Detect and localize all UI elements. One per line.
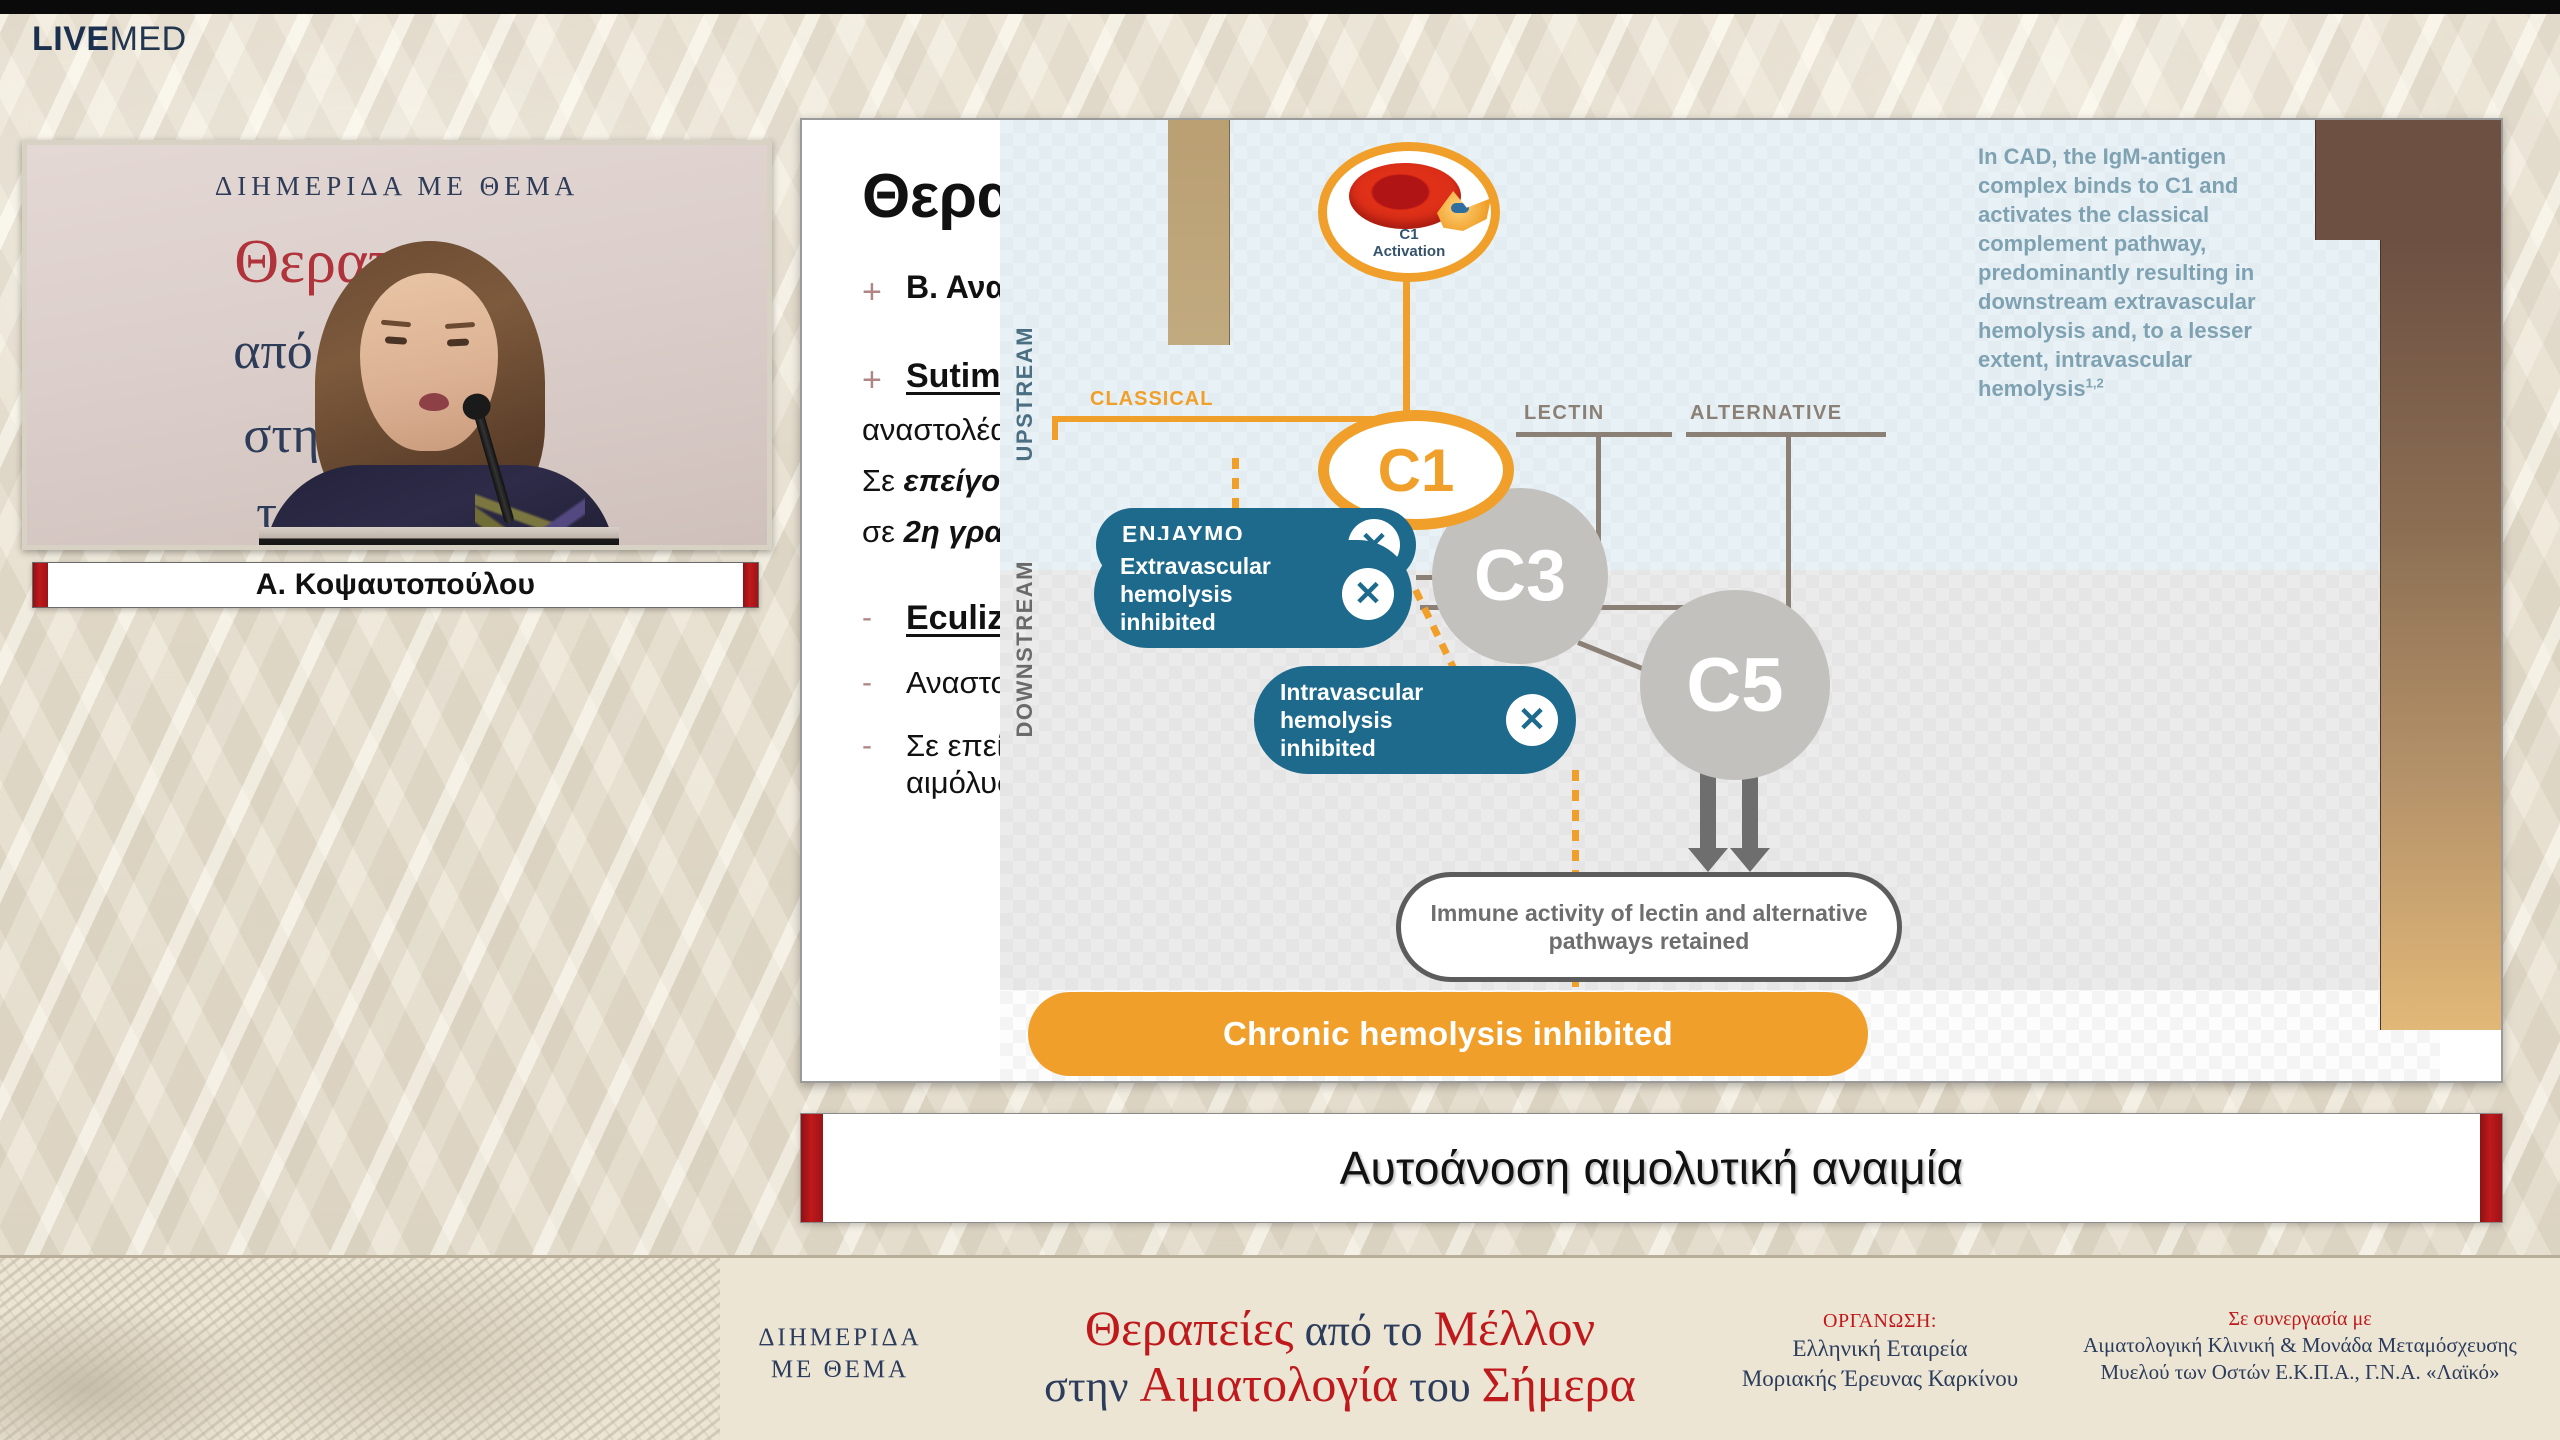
footer-cooperation: Σε συνεργασία με Αιματολογική Κλινική & … — [2060, 1306, 2540, 1387]
livemed-logo: LIVEMED — [32, 22, 187, 56]
top-letterbox-bar — [0, 0, 2560, 14]
c1-activation-node: C1 Activation — [1318, 142, 1500, 282]
brown-bar-gradient — [2380, 240, 2503, 1030]
footer-title-line2: στην Αιματολογία του Σήμερα — [1010, 1356, 1670, 1412]
dash-bullet-icon: - — [862, 603, 884, 633]
conference-footer: ΔΙΗΜΕΡΙΔΑ ΜΕ ΘΕΜΑ Θεραπείες από το Μέλλο… — [0, 1255, 2560, 1440]
tan-accent-bar — [1168, 120, 1230, 345]
connector-c1activation-to-c1 — [1403, 280, 1410, 412]
speaker-name: Α. Κοψαυτοπούλου — [256, 568, 535, 602]
dash-bullet-icon: - — [862, 731, 884, 761]
complement-pathway-diagram: UPSTREAM DOWNSTREAM C1 Activation CLASSI… — [1000, 120, 2503, 1083]
podium — [259, 527, 619, 545]
session-title: Αυτοάνοση αιμολυτική αναιμία — [1340, 1141, 1964, 1195]
c5-node: C5 — [1640, 590, 1830, 780]
speaker-mouth — [419, 393, 449, 411]
chronic-hemolysis-text: Chronic hemolysis inhibited — [1223, 1015, 1673, 1053]
lectin-line-horizontal — [1516, 432, 1672, 437]
footer-title-hematology: Αιματολογία — [1139, 1356, 1398, 1412]
footer-title-mid1: από το — [1294, 1306, 1434, 1355]
speaker-video-panel[interactable]: ΔΙΗΜΕΡΙΔΑ ΜΕ ΘΕΜΑ Θεραπ από το Μ στην Αι… — [22, 140, 772, 550]
footer-dihmerida-line1: ΔΙΗΜΕΡΙΔΑ — [730, 1322, 950, 1354]
presentation-slide[interactable]: Θεραπεία CAD + Β. Αναστολή συμπληρώματος… — [800, 118, 2503, 1083]
intravascular-hemolysis-pill: Intravascular hemolysis inhibited ✕ — [1254, 666, 1576, 774]
building-watermark — [0, 1258, 720, 1440]
session-title-banner: Αυτοάνοση αιμολυτική αναιμία — [800, 1113, 2503, 1223]
nameplate-red-bar-right — [743, 563, 758, 607]
x-inhibit-icon: ✕ — [1342, 568, 1394, 620]
extravascular-text: Extravascular hemolysis inhibited — [1120, 552, 1330, 636]
indication2-pre: σε — [862, 514, 904, 549]
footer-dihmerida-line2: ΜΕ ΘΕΜΑ — [730, 1354, 950, 1386]
brown-bar-top — [2315, 120, 2503, 240]
speaker-name-plate: Α. Κοψαυτοπούλου — [32, 562, 759, 608]
brown-accent-bar — [2315, 120, 2503, 1083]
c1-activation-line2: Activation — [1373, 243, 1446, 260]
indication1-pre: Σε — [862, 463, 904, 498]
footer-cooperation-line2: Μυελού των Οστών Ε.Κ.Π.Α., Γ.Ν.Α. «Λαϊκό… — [2060, 1359, 2540, 1386]
footer-cooperation-line1: Αιματολογική Κλινική & Μονάδα Μεταμόσχευ… — [2060, 1332, 2540, 1359]
pathways-retained-box: Immune activity of lectin and alternativ… — [1396, 872, 1902, 982]
dash-bullet-icon: - — [862, 668, 884, 698]
pathways-retained-text: Immune activity of lectin and alternativ… — [1401, 899, 1897, 955]
c1-activation-label: C1 Activation — [1373, 227, 1446, 261]
footer-title-today: Σήμερα — [1482, 1356, 1636, 1412]
lectin-pathway-label: LECTIN — [1524, 402, 1605, 425]
footer-organizer-line2: Μοριακής Έρευνας Καρκίνου — [1720, 1364, 2040, 1394]
downstream-label: DOWNSTREAM — [1012, 560, 1038, 738]
diagram-paragraph-text: In CAD, the IgM-antigen complex binds to… — [1978, 144, 2256, 401]
upstream-label: UPSTREAM — [1012, 326, 1038, 461]
footer-organizer-heading: ΟΡΓΑΝΩΣΗ: — [1720, 1308, 2040, 1334]
diagram-description-paragraph: In CAD, the IgM-antigen complex binds to… — [1978, 142, 2308, 403]
nameplate-red-bar-left — [33, 563, 48, 607]
c1-activation-line1: C1 — [1399, 226, 1418, 243]
footer-event-title: Θεραπείες από το Μέλλον στην Αιματολογία… — [1010, 1300, 1670, 1412]
diagram-paragraph-citation: 1,2 — [2086, 376, 2104, 391]
extravascular-hemolysis-pill: Extravascular hemolysis inhibited ✕ — [1094, 540, 1412, 648]
footer-title-line1: Θεραπείες από το Μέλλον — [1010, 1300, 1670, 1356]
footer-title-mid3: του — [1398, 1362, 1481, 1411]
alternative-pathway-label: ALTERNATIVE — [1690, 402, 1842, 425]
footer-title-therapies: Θεραπείες — [1085, 1300, 1294, 1356]
alternative-line-vertical — [1786, 432, 1791, 610]
logo-suffix: MED — [110, 20, 187, 58]
banner-red-bar-left — [801, 1114, 823, 1222]
dotted-path-segment — [1572, 770, 1579, 876]
x-inhibit-icon: ✕ — [1506, 694, 1558, 746]
backdrop-line-1: ΔΙΗΜΕΡΙΔΑ ΜΕ ΘΕΜΑ — [27, 171, 767, 202]
logo-prefix: LIVE — [32, 20, 110, 58]
chronic-hemolysis-bar: Chronic hemolysis inhibited — [1028, 992, 1868, 1076]
footer-organizer-line1: Ελληνική Εταιρεία — [1720, 1334, 2040, 1364]
speaker-eye-left — [385, 336, 407, 345]
footer-dihmerida-label: ΔΙΗΜΕΡΙΔΑ ΜΕ ΘΕΜΑ — [730, 1322, 950, 1386]
footer-title-mid2: στην — [1044, 1362, 1139, 1411]
classical-pathway-line — [1052, 416, 1404, 422]
footer-organizer: ΟΡΓΑΝΩΣΗ: Ελληνική Εταιρεία Μοριακής Έρε… — [1720, 1308, 2040, 1394]
classical-pathway-label: CLASSICAL — [1090, 388, 1213, 411]
plus-bullet-icon: + — [862, 275, 884, 309]
classical-pathway-line-vertical — [1052, 416, 1058, 440]
video-frame: ΔΙΗΜΕΡΙΔΑ ΜΕ ΘΕΜΑ Θεραπ από το Μ στην Αι… — [27, 145, 767, 545]
footer-cooperation-heading: Σε συνεργασία με — [2060, 1306, 2540, 1332]
speaker-eye-right — [447, 338, 469, 346]
banner-red-bar-right — [2480, 1114, 2502, 1222]
intravascular-text: Intravascular hemolysis inhibited — [1280, 678, 1492, 762]
footer-title-future: Μέλλον — [1434, 1300, 1596, 1356]
plus-bullet-icon: + — [862, 363, 884, 397]
